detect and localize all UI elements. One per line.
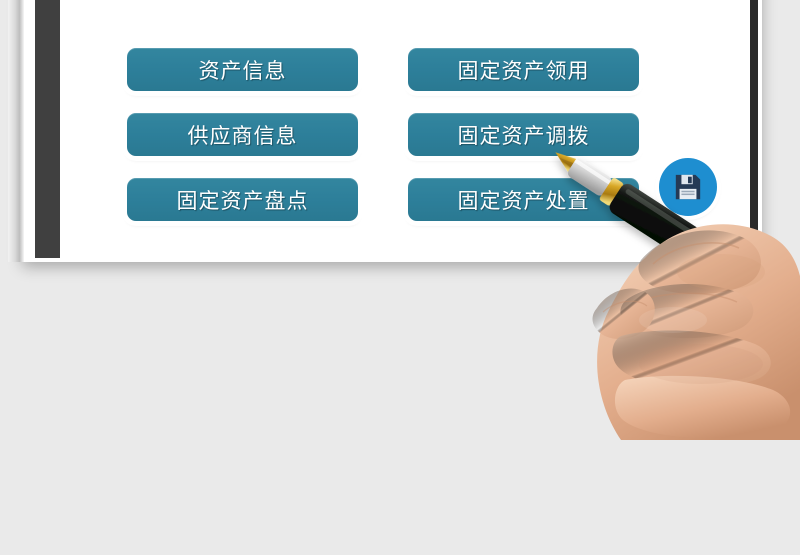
menu-button-grid: 资产信息 固定资产领用 供应商信息 固定资产调拨 固定资产盘点 固定资产处置: [127, 48, 647, 243]
button-supplier-info[interactable]: 供应商信息: [127, 113, 358, 156]
button-label: 固定资产盘点: [177, 185, 309, 215]
menu-row: 资产信息 固定资产领用: [127, 48, 647, 91]
button-label: 固定资产处置: [458, 185, 590, 215]
save-badge[interactable]: [659, 158, 717, 216]
left-dark-sidebar: [35, 0, 60, 258]
button-label: 固定资产领用: [458, 55, 590, 85]
button-fixed-asset-disposal[interactable]: 固定资产处置: [408, 178, 639, 221]
button-fixed-asset-requisition[interactable]: 固定资产领用: [408, 48, 639, 91]
right-dark-sidebar: [750, 0, 758, 238]
card-left-page-edge: [8, 0, 24, 262]
menu-row: 供应商信息 固定资产调拨: [127, 113, 647, 156]
menu-row: 固定资产盘点 固定资产处置: [127, 178, 647, 221]
floppy-disk-icon: [673, 172, 703, 202]
button-fixed-asset-transfer[interactable]: 固定资产调拨: [408, 113, 639, 156]
document-card: 资产信息 固定资产领用 供应商信息 固定资产调拨 固定资产盘点 固定资产处置: [22, 0, 762, 262]
button-label: 固定资产调拨: [458, 120, 590, 150]
button-label: 供应商信息: [188, 120, 298, 150]
button-label: 资产信息: [199, 55, 287, 85]
button-asset-info[interactable]: 资产信息: [127, 48, 358, 91]
button-fixed-asset-inventory[interactable]: 固定资产盘点: [127, 178, 358, 221]
